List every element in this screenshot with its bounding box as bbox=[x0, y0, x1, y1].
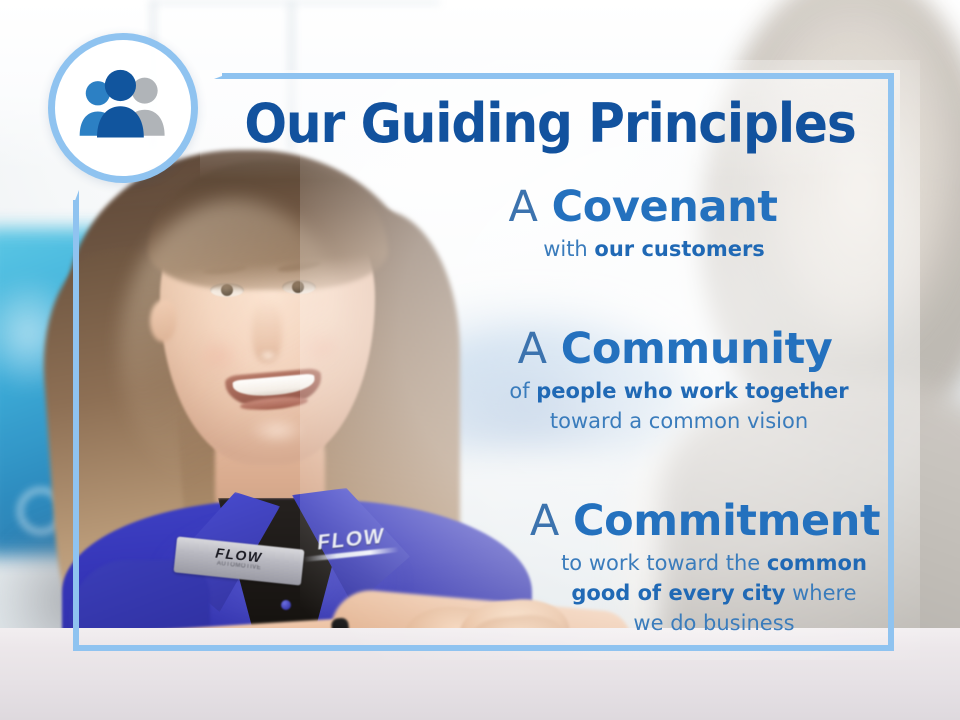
spacer-1 bbox=[120, 278, 910, 322]
principle-heading: A Community bbox=[440, 322, 910, 376]
principle-article: A bbox=[530, 496, 559, 546]
subline-part: where bbox=[785, 581, 856, 605]
principle-community: A Community of people who work together … bbox=[120, 322, 910, 436]
subline-part-bold: good of every city bbox=[571, 581, 785, 605]
principles-list: A Covenant with our customers A Communit… bbox=[120, 180, 910, 652]
principle-subtext: with our customers bbox=[370, 234, 910, 264]
subline-part-bold: people who work together bbox=[536, 379, 848, 403]
principle-article: A bbox=[518, 324, 547, 374]
principle-commitment: A Commitment to work toward the common g… bbox=[120, 494, 910, 638]
principle-subline: of people who work together bbox=[448, 376, 910, 406]
principle-subtext: of people who work together toward a com… bbox=[440, 376, 910, 436]
principle-heading: A Commitment bbox=[500, 494, 910, 548]
subline-part-bold: common bbox=[767, 551, 867, 575]
subline-part-bold: our customers bbox=[594, 237, 764, 261]
people-group-icon bbox=[48, 33, 198, 183]
principle-article: A bbox=[509, 182, 538, 232]
principle-heading: A Covenant bbox=[370, 180, 910, 234]
spacer-2 bbox=[120, 450, 910, 494]
principle-keyword: Community bbox=[561, 324, 833, 374]
guiding-principles-banner: FLOW AUTOMOTIVE FLOW bbox=[0, 0, 960, 720]
page-title: Our Guiding Principles bbox=[243, 95, 857, 153]
subline-part: with bbox=[543, 237, 594, 261]
principle-subtext: to work toward the common good of every … bbox=[500, 548, 910, 638]
principle-subline: good of every city where bbox=[518, 578, 910, 608]
principle-covenant: A Covenant with our customers bbox=[120, 180, 910, 264]
principle-subline: we do business bbox=[518, 608, 910, 638]
principle-keyword: Commitment bbox=[573, 496, 880, 546]
principle-subline: with our customers bbox=[543, 237, 765, 261]
subline-part: to work toward the bbox=[561, 551, 767, 575]
principle-keyword: Covenant bbox=[552, 182, 778, 232]
subline-part: of bbox=[509, 379, 536, 403]
principle-subline: toward a common vision bbox=[448, 406, 910, 436]
principle-subline: to work toward the common bbox=[518, 548, 910, 578]
